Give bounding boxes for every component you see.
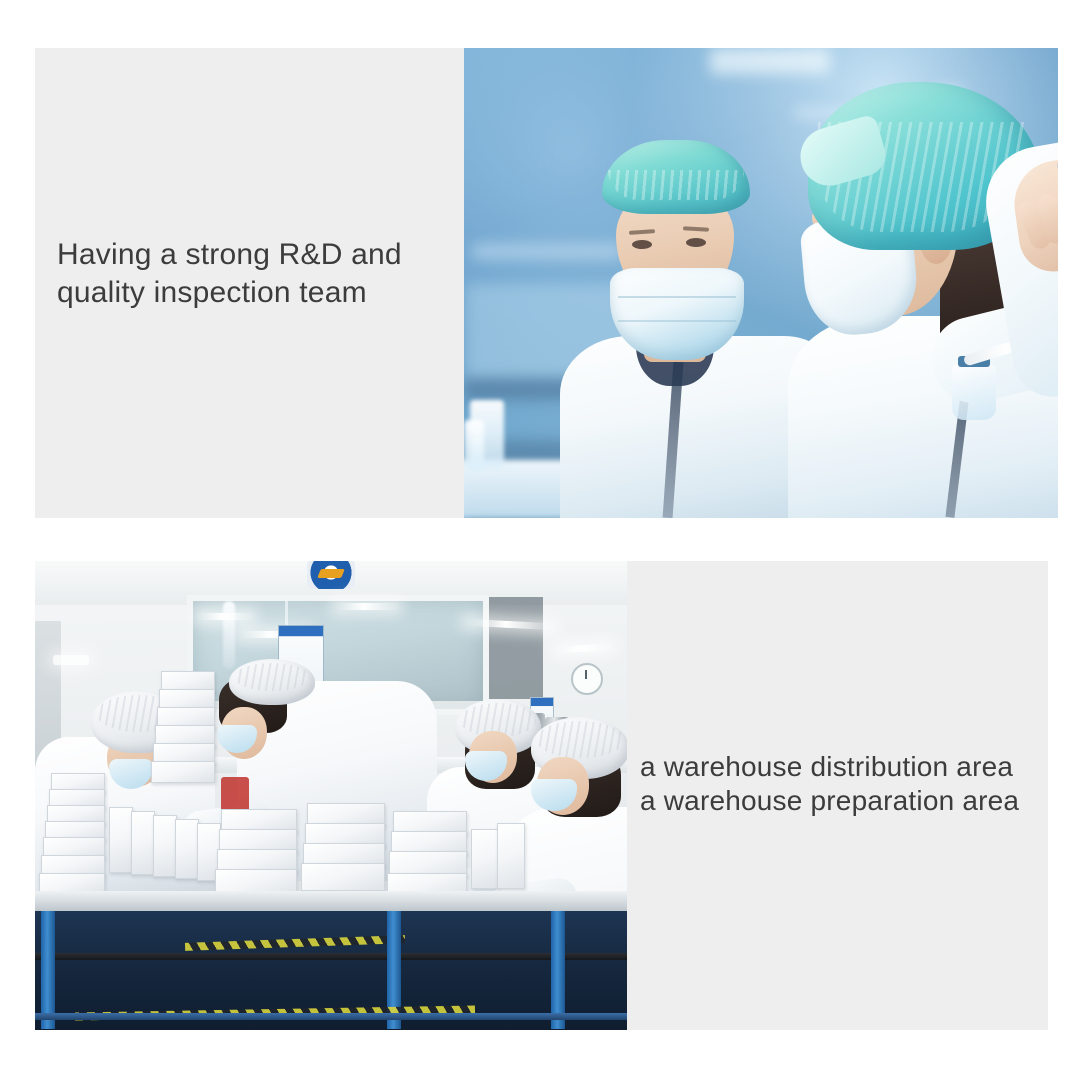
ceiling-light-blur — [710, 48, 830, 74]
eye-left — [632, 240, 652, 249]
box — [151, 761, 215, 783]
box — [153, 815, 177, 877]
rd-quality-caption-line-1: Having a strong R&D and — [57, 236, 457, 274]
lab-bottle-2 — [464, 420, 484, 470]
box — [131, 811, 155, 875]
warehouse-scene — [35, 561, 627, 1030]
section-rd-quality: Having a strong R&D and quality inspecti… — [35, 48, 1058, 518]
eye-right — [686, 238, 706, 247]
table-leg-1 — [41, 911, 55, 1029]
warehouse-packing-area-photo — [35, 561, 627, 1030]
ceiling-light-3 — [335, 603, 399, 610]
section-warehouse: a warehouse distribution area a warehous… — [35, 561, 1048, 1030]
warehouse-caption: a warehouse distribution area a warehous… — [640, 750, 1040, 818]
hairnet-front — [602, 140, 750, 214]
ceiling-light-5 — [53, 655, 89, 665]
laboratory-quality-inspection-photo — [464, 48, 1058, 518]
table-rail-2 — [35, 1013, 627, 1020]
table-rail-1 — [35, 953, 627, 960]
poster-canvas: Having a strong R&D and quality inspecti… — [0, 0, 1080, 1080]
packing-table-top — [35, 891, 627, 913]
company-logo-sign — [307, 561, 355, 589]
warehouse-caption-line-1: a warehouse distribution area — [640, 750, 1040, 784]
lab-scene — [464, 48, 1058, 518]
rd-quality-caption-line-2: quality inspection team — [57, 274, 457, 312]
box — [175, 819, 199, 879]
box — [471, 829, 499, 889]
rd-quality-caption: Having a strong R&D and quality inspecti… — [57, 236, 457, 312]
ceiling-light-1 — [197, 613, 253, 620]
box — [497, 823, 525, 889]
worker-2-hairnet — [229, 659, 315, 705]
box — [109, 807, 133, 873]
table-leg-3 — [551, 911, 565, 1029]
flask-icon — [952, 364, 996, 420]
warehouse-caption-line-2: a warehouse preparation area — [640, 784, 1040, 818]
box — [301, 863, 385, 891]
